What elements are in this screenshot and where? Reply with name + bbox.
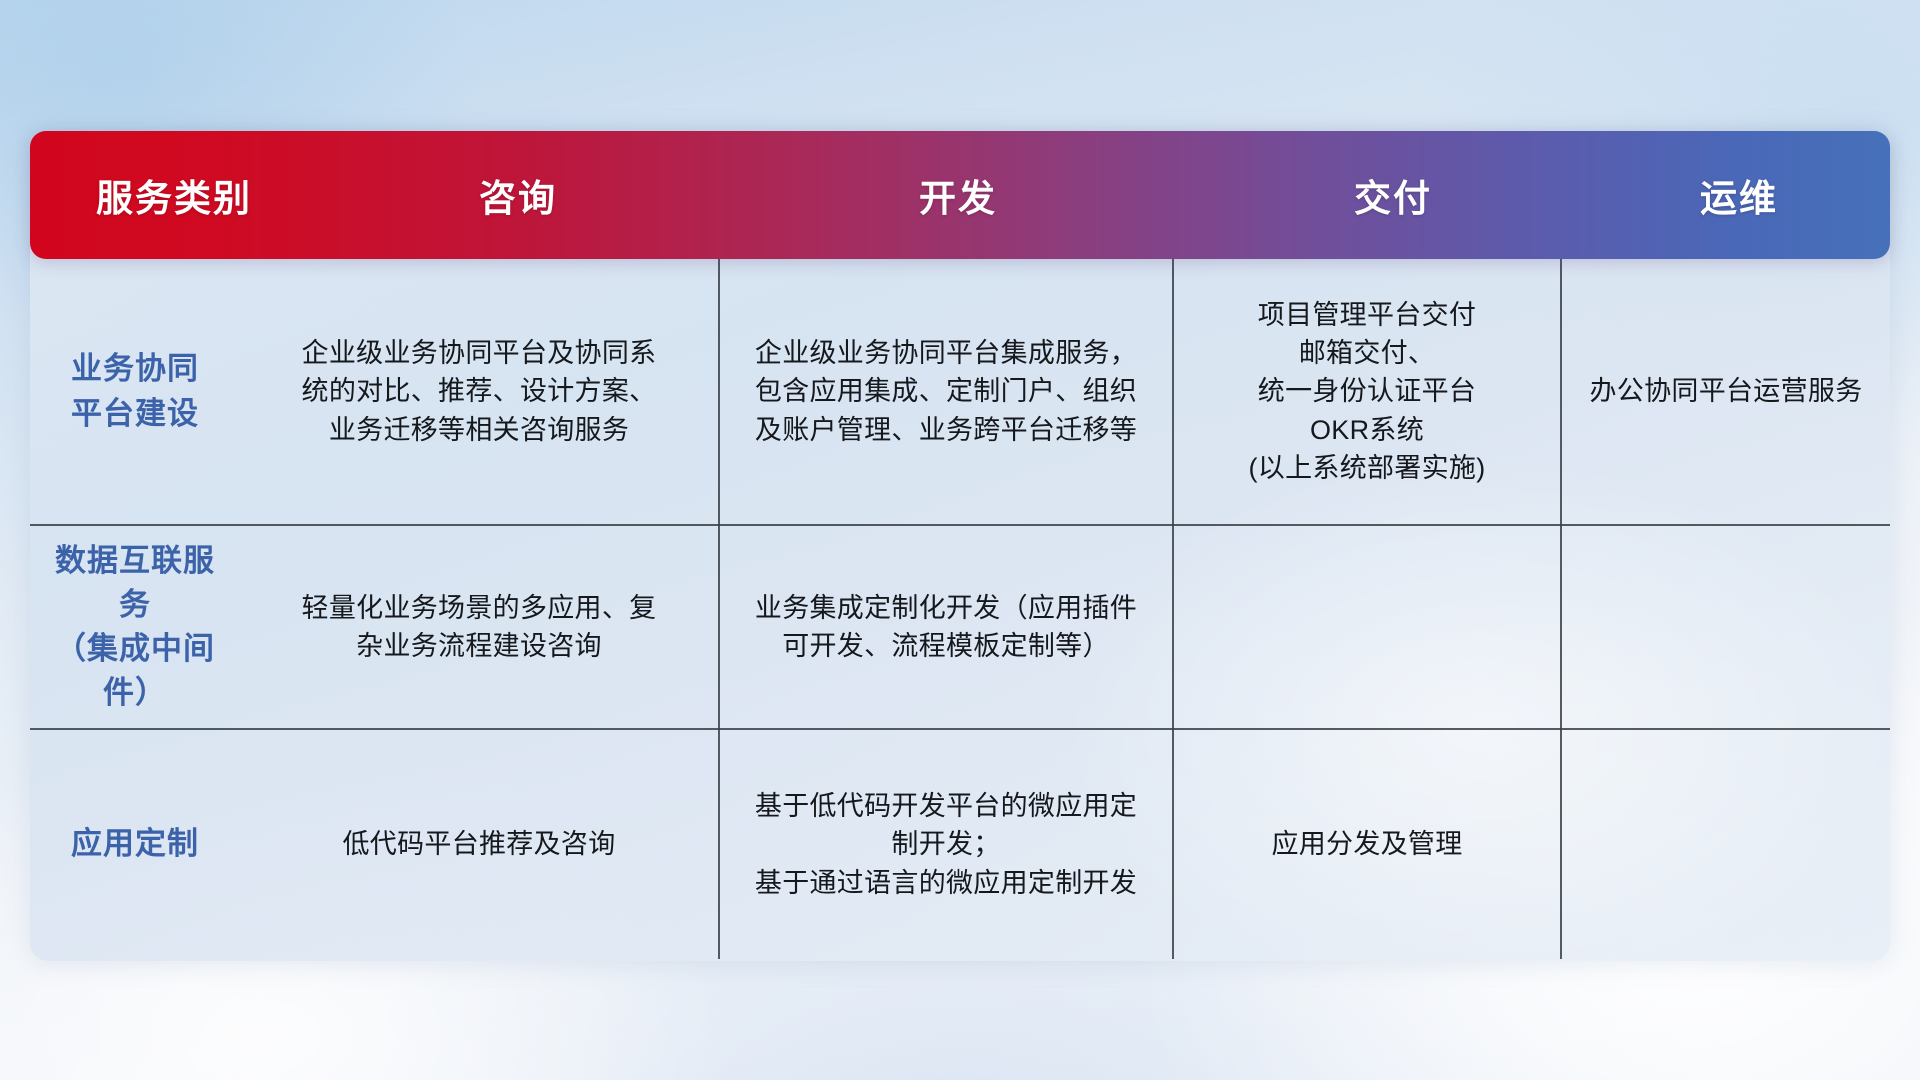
column-header-deliver: 交付 [1198,131,1588,259]
column-header-consult: 咨询 [318,131,718,259]
row-label-business-collaboration: 业务协同 平台建设 [30,259,240,524]
column-header-operate: 运维 [1588,131,1890,259]
cell-r3-consult: 低代码平台推荐及咨询 [240,730,718,959]
table-header-row: 服务类别 咨询 开发 交付 运维 [30,131,1890,259]
cell-r1-operate: 办公协同平台运营服务 [1562,259,1890,524]
column-header-category: 服务类别 [30,131,318,259]
cell-r2-deliver [1174,526,1560,728]
cell-r3-develop: 基于低代码开发平台的微应用定 制开发； 基于通过语言的微应用定制开发 [720,730,1172,959]
cell-r1-consult: 企业级业务协同平台及协同系 统的对比、推荐、设计方案、 业务迁移等相关咨询服务 [240,259,718,524]
cell-r2-develop: 业务集成定制化开发（应用插件 可开发、流程模板定制等） [720,526,1172,728]
row-label-data-interconnect: 数据互联服务 （集成中间件） [30,526,240,728]
cell-r1-develop: 企业级业务协同平台集成服务， 包含应用集成、定制门户、组织 及账户管理、业务跨平… [720,259,1172,524]
cell-r1-deliver: 项目管理平台交付 邮箱交付、 统一身份认证平台 OKR系统 (以上系统部署实施) [1174,259,1560,524]
cell-r3-operate [1562,730,1890,959]
row-label-app-customization: 应用定制 [30,730,240,959]
cell-r2-operate [1562,526,1890,728]
column-header-develop: 开发 [718,131,1198,259]
cell-r3-deliver: 应用分发及管理 [1174,730,1560,959]
cell-r2-consult: 轻量化业务场景的多应用、复 杂业务流程建设咨询 [240,526,718,728]
